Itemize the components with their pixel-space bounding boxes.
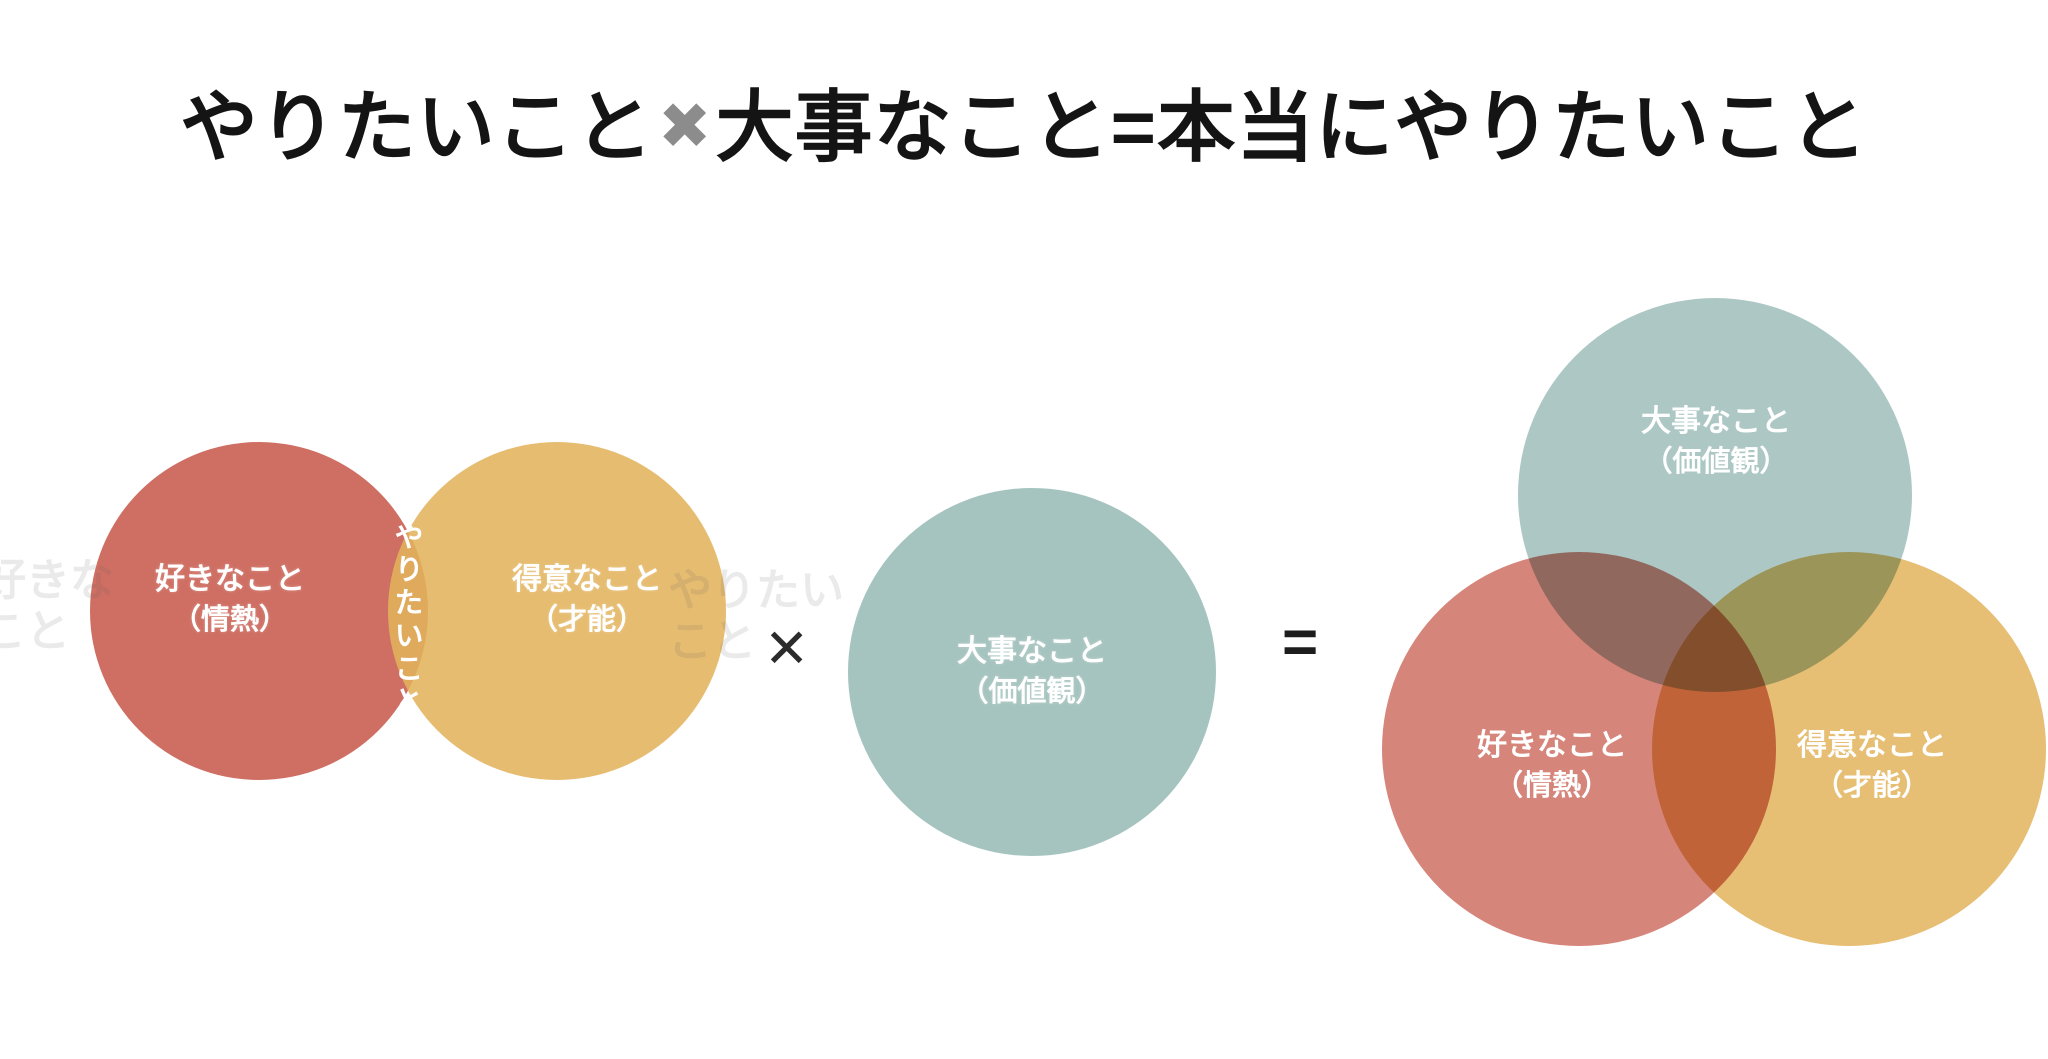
left-venn-label-suki-main: 好きなこと xyxy=(90,560,370,601)
left-venn-label-tokui-main: 得意なこと xyxy=(448,560,726,601)
equals-operator-icon: = xyxy=(1282,612,1318,674)
right-venn-label-suki-main: 好きなこと xyxy=(1406,726,1698,767)
middle-circle-label-main: 大事なこと xyxy=(957,632,1107,673)
left-venn-label-tokui: 得意なこと （才能） xyxy=(448,560,726,640)
left-venn-intersection-label: やりたいこと xyxy=(366,510,420,730)
right-venn-label-suki-sub: （情熱） xyxy=(1406,767,1698,806)
right-venn-label-tokui-sub: （才能） xyxy=(1726,767,2018,806)
right-venn-label-daiji-main: 大事なこと xyxy=(1558,402,1874,443)
right-venn-label-suki: 好きなこと （情熱） xyxy=(1406,726,1698,806)
diagram-stage: 好きな こと やりたい こと 好きなこと （情熱） 得意なこと （才能） やりた… xyxy=(0,0,2048,1059)
middle-circle-label-sub: （価値観） xyxy=(959,673,1104,712)
middle-circle-daiji: 大事なこと （価値観） xyxy=(848,488,1216,856)
left-venn-label-tokui-sub: （才能） xyxy=(448,601,726,640)
right-venn-label-daiji-sub: （価値観） xyxy=(1558,443,1874,482)
right-venn-label-tokui: 得意なこと （才能） xyxy=(1726,726,2018,806)
left-venn-label-suki: 好きなこと （情熱） xyxy=(90,560,370,640)
multiplication-operator-icon: ✕ xyxy=(764,622,809,676)
right-venn-label-daiji: 大事なこと （価値観） xyxy=(1558,402,1874,482)
right-venn-label-tokui-main: 得意なこと xyxy=(1726,726,2018,767)
left-venn-label-suki-sub: （情熱） xyxy=(90,601,370,640)
